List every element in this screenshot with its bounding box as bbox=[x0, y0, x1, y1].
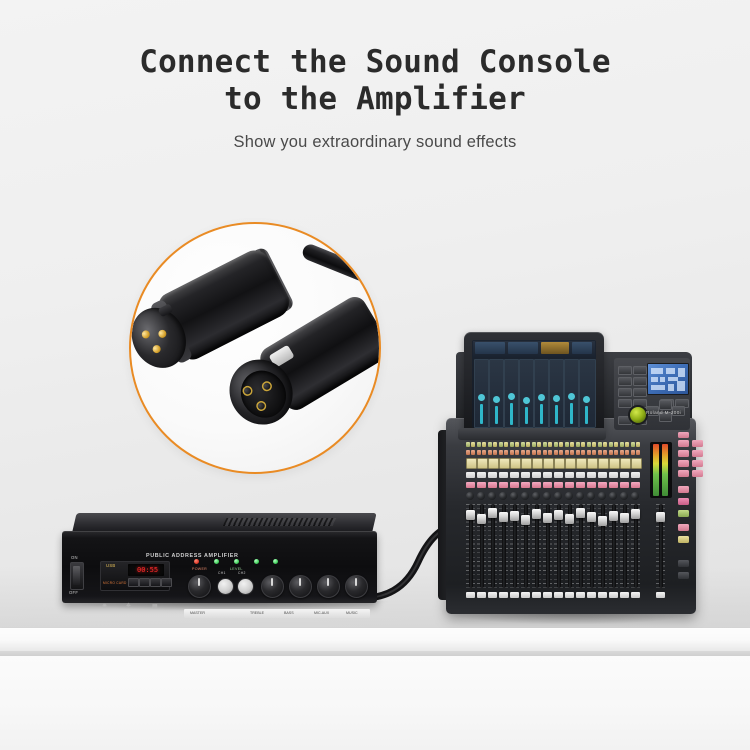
right-button[interactable] bbox=[678, 486, 689, 493]
tablet-fader bbox=[540, 404, 543, 424]
amp-top-cover bbox=[72, 513, 377, 533]
tablet-card-2 bbox=[508, 342, 538, 354]
tablet-knob bbox=[478, 394, 485, 401]
channel-fader[interactable] bbox=[532, 509, 541, 519]
strip-white-button[interactable] bbox=[488, 472, 497, 478]
strip-white-button[interactable] bbox=[598, 472, 607, 478]
led-meter-bridge bbox=[650, 442, 672, 498]
strip-white-button[interactable] bbox=[477, 472, 486, 478]
panel-button[interactable] bbox=[618, 388, 632, 397]
mic-input-ch2[interactable] bbox=[237, 578, 254, 595]
panel-button[interactable] bbox=[633, 388, 647, 397]
strip-gain-knob[interactable] bbox=[466, 458, 477, 469]
media-button-1[interactable] bbox=[128, 578, 139, 587]
channel-fader[interactable] bbox=[631, 509, 640, 519]
channel-strip bbox=[499, 442, 509, 600]
strip-white-button[interactable] bbox=[466, 472, 475, 478]
right-button[interactable] bbox=[692, 460, 703, 467]
tablet-knob bbox=[553, 395, 560, 402]
strip-orange-button bbox=[620, 450, 624, 455]
led-level bbox=[234, 559, 239, 564]
tablet-channel bbox=[504, 359, 519, 428]
strip-orange-button bbox=[526, 450, 530, 455]
channel-strip-area bbox=[466, 442, 646, 600]
tablet-fader bbox=[585, 406, 588, 424]
strip-pan-knob[interactable] bbox=[554, 492, 562, 500]
channel-fader[interactable] bbox=[620, 513, 629, 523]
strip-green-button bbox=[488, 442, 492, 447]
strip-orange-button bbox=[636, 450, 640, 455]
strip-orange-button bbox=[609, 450, 613, 455]
strip-pink-button[interactable] bbox=[554, 482, 563, 488]
channel-strip bbox=[565, 442, 575, 600]
strip-pan-knob[interactable] bbox=[620, 492, 628, 500]
strip-yellow-button bbox=[471, 442, 475, 447]
right-button[interactable] bbox=[692, 470, 703, 477]
strip-select-button[interactable] bbox=[587, 592, 596, 598]
strip-pan-knob[interactable] bbox=[631, 492, 639, 500]
channel-fader[interactable] bbox=[587, 512, 596, 522]
console-lcd-screen[interactable] bbox=[647, 363, 689, 395]
strip-select-button[interactable] bbox=[521, 592, 530, 598]
knob-treble[interactable] bbox=[289, 575, 312, 598]
strip-orange-button bbox=[521, 450, 525, 455]
strip-pan-knob[interactable] bbox=[532, 492, 540, 500]
strip-pink-button[interactable] bbox=[532, 482, 541, 488]
channel-fader[interactable] bbox=[576, 508, 585, 518]
strip-select-button[interactable] bbox=[609, 592, 618, 598]
product-infographic: Connect the Sound Console to the Amplifi… bbox=[0, 0, 750, 750]
power-switch[interactable] bbox=[70, 562, 84, 590]
channel-strip bbox=[587, 442, 597, 600]
strip-yellow-button bbox=[559, 442, 563, 447]
strip-green-button bbox=[631, 442, 635, 447]
strip-orange-button bbox=[510, 450, 514, 455]
strip-yellow-button bbox=[537, 442, 541, 447]
ch1-label: CH1 bbox=[218, 571, 226, 575]
strip-green-button bbox=[477, 442, 481, 447]
console-brand-label: Roland M-200i bbox=[646, 410, 681, 415]
tablet-knob bbox=[538, 394, 545, 401]
amp-front-panel: PUBLIC ADDRESS AMPLIFIER ON OFF USB MICR… bbox=[62, 531, 377, 603]
strip-yellow-button bbox=[515, 442, 519, 447]
strip-orange-button bbox=[488, 450, 492, 455]
page-subtitle: Show you extraordinary sound effects bbox=[0, 133, 750, 152]
strip-orange-button bbox=[576, 450, 580, 455]
channel-fader[interactable] bbox=[488, 508, 497, 518]
strip-green-button bbox=[620, 442, 624, 447]
strip-yellow-button bbox=[614, 442, 618, 447]
inset-clip bbox=[131, 224, 379, 472]
strip-gain-knob[interactable] bbox=[510, 458, 521, 469]
strip-orange-button bbox=[631, 450, 635, 455]
strip-select-button[interactable] bbox=[554, 592, 563, 598]
strip-orange-button bbox=[587, 450, 591, 455]
usb-icon: ⎈ bbox=[126, 603, 131, 610]
strip-pan-knob[interactable] bbox=[488, 492, 496, 500]
strip-yellow-button bbox=[504, 442, 508, 447]
strip-green-button bbox=[499, 442, 503, 447]
digital-mixing-console: Roland M-200i bbox=[428, 322, 696, 622]
strip-gain-knob[interactable] bbox=[532, 458, 543, 469]
panel-button[interactable] bbox=[633, 366, 647, 375]
strip-select-button[interactable] bbox=[499, 592, 508, 598]
strip-green-button bbox=[609, 442, 613, 447]
meter-left bbox=[653, 444, 659, 496]
strip-green-button bbox=[576, 442, 580, 447]
male-pin-1 bbox=[140, 329, 151, 340]
strip-pan-knob[interactable] bbox=[543, 492, 551, 500]
strip-white-button[interactable] bbox=[609, 472, 618, 478]
strip-select-button[interactable] bbox=[466, 592, 475, 598]
strip-pink-button[interactable] bbox=[598, 482, 607, 488]
legend-music: MUSIC bbox=[346, 611, 358, 615]
strip-green-button bbox=[466, 442, 470, 447]
strip-gain-knob[interactable] bbox=[499, 458, 510, 469]
strip-yellow-button bbox=[482, 442, 486, 447]
strip-green-button bbox=[543, 442, 547, 447]
strip-pan-knob[interactable] bbox=[598, 492, 606, 500]
legend-treble: TREBLE bbox=[250, 611, 264, 615]
led-power bbox=[194, 559, 199, 564]
channel-strip bbox=[598, 442, 608, 600]
strip-white-button[interactable] bbox=[565, 472, 574, 478]
channel-fader[interactable] bbox=[466, 510, 475, 520]
strip-orange-button bbox=[532, 450, 536, 455]
channel-strip bbox=[576, 442, 586, 600]
tablet-channel bbox=[564, 359, 579, 428]
public-address-amplifier: PUBLIC ADDRESS AMPLIFIER ON OFF USB MICR… bbox=[62, 513, 377, 611]
sd-label: MICRO CARD bbox=[103, 581, 127, 585]
right-button[interactable] bbox=[678, 524, 689, 531]
right-button[interactable] bbox=[678, 510, 689, 517]
strip-orange-button bbox=[499, 450, 503, 455]
strip-white-button[interactable] bbox=[587, 472, 596, 478]
channel-fader[interactable] bbox=[598, 516, 607, 526]
tablet-channel bbox=[474, 359, 489, 428]
led-display-value: 00:55 bbox=[137, 566, 142, 574]
media-button-4[interactable] bbox=[161, 578, 172, 587]
channel-strip bbox=[543, 442, 553, 600]
strip-gain-knob[interactable] bbox=[576, 458, 587, 469]
strip-white-button[interactable] bbox=[620, 472, 629, 478]
strip-orange-button bbox=[471, 450, 475, 455]
strip-white-button[interactable] bbox=[532, 472, 541, 478]
right-button[interactable] bbox=[692, 440, 703, 447]
strip-pink-button[interactable] bbox=[477, 482, 486, 488]
strip-yellow-button bbox=[548, 442, 552, 447]
tablet-knob bbox=[568, 393, 575, 400]
strip-white-button[interactable] bbox=[631, 472, 640, 478]
strip-orange-button bbox=[559, 450, 563, 455]
strip-pan-knob[interactable] bbox=[499, 492, 507, 500]
knob-bass[interactable] bbox=[317, 575, 340, 598]
led-5 bbox=[273, 559, 278, 564]
right-button[interactable] bbox=[678, 470, 689, 477]
strip-yellow-button bbox=[581, 442, 585, 447]
strip-orange-button bbox=[625, 450, 629, 455]
tablet-card-3 bbox=[541, 342, 569, 354]
strip-yellow-button bbox=[625, 442, 629, 447]
channel-fader[interactable] bbox=[565, 514, 574, 524]
tablet-fader bbox=[570, 403, 573, 424]
strip-orange-button bbox=[565, 450, 569, 455]
strip-white-button[interactable] bbox=[499, 472, 508, 478]
tablet-knob bbox=[493, 396, 500, 403]
strip-select-button[interactable] bbox=[543, 592, 552, 598]
ch2-label: CH2 bbox=[238, 571, 246, 575]
channel-strip bbox=[488, 442, 498, 600]
strip-gain-knob[interactable] bbox=[631, 458, 642, 469]
strip-yellow-button bbox=[493, 442, 497, 447]
channel-fader[interactable] bbox=[499, 512, 508, 522]
strip-orange-button bbox=[581, 450, 585, 455]
strip-green-button bbox=[521, 442, 525, 447]
strip-pan-knob[interactable] bbox=[521, 492, 529, 500]
strip-orange-button bbox=[504, 450, 508, 455]
tablet-fader bbox=[555, 405, 558, 424]
right-button[interactable] bbox=[678, 498, 689, 505]
strip-orange-button bbox=[603, 450, 607, 455]
strip-orange-button bbox=[570, 450, 574, 455]
strip-pink-button[interactable] bbox=[631, 482, 640, 488]
legend-master: MASTER bbox=[190, 611, 205, 615]
female-cavity bbox=[232, 362, 294, 426]
strip-orange-button bbox=[537, 450, 541, 455]
female-socket-2 bbox=[260, 379, 274, 393]
knob-music[interactable] bbox=[345, 575, 368, 598]
master-select-button[interactable] bbox=[656, 592, 665, 598]
tablet-screen[interactable] bbox=[472, 340, 596, 428]
strip-pink-button[interactable] bbox=[521, 482, 530, 488]
right-button[interactable] bbox=[678, 572, 689, 579]
strip-pan-knob[interactable] bbox=[587, 492, 595, 500]
channel-strip bbox=[554, 442, 564, 600]
right-button-top[interactable] bbox=[678, 432, 689, 438]
tablet-knob bbox=[508, 393, 515, 400]
tablet-channel bbox=[489, 359, 504, 428]
tablet-fader bbox=[495, 406, 498, 424]
strip-gain-knob[interactable] bbox=[609, 458, 620, 469]
tablet-channel bbox=[534, 359, 549, 428]
meter-right bbox=[662, 444, 668, 496]
panel-button[interactable] bbox=[618, 399, 632, 408]
male-pin-2 bbox=[157, 328, 168, 339]
strip-gain-knob[interactable] bbox=[620, 458, 631, 469]
usb-label: USB bbox=[106, 563, 116, 568]
strip-orange-button bbox=[592, 450, 596, 455]
tablet-card-1 bbox=[475, 342, 505, 354]
strip-yellow-button bbox=[603, 442, 607, 447]
led-display: 00:55 bbox=[128, 564, 164, 576]
strip-green-button bbox=[554, 442, 558, 447]
strip-yellow-button bbox=[570, 442, 574, 447]
strip-pink-button[interactable] bbox=[565, 482, 574, 488]
channel-strip bbox=[466, 442, 476, 600]
strip-white-button[interactable] bbox=[521, 472, 530, 478]
channel-fader[interactable] bbox=[510, 511, 519, 521]
mic-input-ch1[interactable] bbox=[217, 578, 234, 595]
strip-orange-button bbox=[543, 450, 547, 455]
strip-pink-button[interactable] bbox=[620, 482, 629, 488]
strip-pink-button[interactable] bbox=[488, 482, 497, 488]
channel-strip bbox=[477, 442, 487, 600]
strip-select-button[interactable] bbox=[488, 592, 497, 598]
title-line-1: Connect the Sound Console bbox=[139, 44, 611, 80]
strip-gain-knob[interactable] bbox=[488, 458, 499, 469]
channel-strip bbox=[532, 442, 542, 600]
sd-card-icon: ▦ bbox=[152, 603, 158, 610]
right-button[interactable] bbox=[678, 450, 689, 457]
right-button[interactable] bbox=[692, 450, 703, 457]
strip-select-button[interactable] bbox=[477, 592, 486, 598]
tablet-knob bbox=[583, 396, 590, 403]
strip-gain-knob[interactable] bbox=[477, 458, 488, 469]
brand-model: M-200i bbox=[665, 410, 681, 415]
amp-vent-slots bbox=[223, 518, 337, 526]
strip-gain-knob[interactable] bbox=[587, 458, 598, 469]
strip-select-button[interactable] bbox=[598, 592, 607, 598]
channel-strip bbox=[620, 442, 630, 600]
strip-orange-button bbox=[466, 450, 470, 455]
console-armrest bbox=[458, 428, 606, 440]
cursor-up-button[interactable] bbox=[659, 400, 672, 410]
strip-pan-knob[interactable] bbox=[510, 492, 518, 500]
tablet-fader bbox=[480, 404, 483, 424]
strip-pink-button[interactable] bbox=[466, 482, 475, 488]
female-socket-3 bbox=[254, 399, 268, 413]
master-fader[interactable] bbox=[656, 512, 665, 522]
media-button-2[interactable] bbox=[139, 578, 150, 587]
power-off-label: OFF bbox=[69, 590, 78, 595]
strip-white-button[interactable] bbox=[554, 472, 563, 478]
tablet-channel bbox=[519, 359, 534, 428]
media-button-3[interactable] bbox=[150, 578, 161, 587]
strip-white-button[interactable] bbox=[510, 472, 519, 478]
panel-button[interactable] bbox=[618, 377, 632, 386]
led-4 bbox=[254, 559, 259, 564]
strip-pan-knob[interactable] bbox=[576, 492, 584, 500]
channel-fader[interactable] bbox=[477, 514, 486, 524]
panel-button[interactable] bbox=[618, 366, 632, 375]
xlr-cable-closeup bbox=[129, 222, 381, 474]
channel-strip bbox=[510, 442, 520, 600]
strip-green-button bbox=[587, 442, 591, 447]
brand-name: Roland bbox=[646, 410, 663, 415]
male-pin-3 bbox=[151, 344, 162, 355]
strip-select-button[interactable] bbox=[576, 592, 585, 598]
knob-master[interactable] bbox=[261, 575, 284, 598]
led-power-label: POWER bbox=[192, 567, 207, 571]
channel-strip bbox=[631, 442, 641, 600]
right-button[interactable] bbox=[678, 440, 689, 447]
strip-yellow-button bbox=[592, 442, 596, 447]
strip-pink-button[interactable] bbox=[543, 482, 552, 488]
right-button[interactable] bbox=[678, 460, 689, 467]
strip-select-button[interactable] bbox=[565, 592, 574, 598]
legend-bass: BASS bbox=[284, 611, 294, 615]
strip-gain-knob[interactable] bbox=[521, 458, 532, 469]
strip-green-button bbox=[598, 442, 602, 447]
channel-fader[interactable] bbox=[543, 513, 552, 523]
right-button[interactable] bbox=[678, 560, 689, 567]
strip-pink-button[interactable] bbox=[576, 482, 585, 488]
strip-pan-knob[interactable] bbox=[477, 492, 485, 500]
legend-micaux: MIC-AUX bbox=[314, 611, 329, 615]
strip-yellow-button bbox=[636, 442, 640, 447]
channel-fader[interactable] bbox=[609, 511, 618, 521]
strip-orange-button bbox=[493, 450, 497, 455]
indicator-led-row bbox=[194, 559, 278, 565]
channel-strip bbox=[521, 442, 531, 600]
tablet-channel bbox=[549, 359, 564, 428]
strip-select-button[interactable] bbox=[532, 592, 541, 598]
strip-green-button bbox=[565, 442, 569, 447]
strip-gain-knob[interactable] bbox=[554, 458, 565, 469]
tablet-knob bbox=[523, 397, 530, 404]
strip-green-button bbox=[532, 442, 536, 447]
cabinet bbox=[0, 656, 750, 750]
right-button[interactable] bbox=[678, 536, 689, 543]
tablet-card-4 bbox=[572, 342, 592, 354]
strip-orange-button bbox=[598, 450, 602, 455]
strip-yellow-button bbox=[526, 442, 530, 447]
channel-fader[interactable] bbox=[554, 510, 563, 520]
strip-pink-button[interactable] bbox=[499, 482, 508, 488]
strip-orange-button bbox=[548, 450, 552, 455]
strip-green-button bbox=[510, 442, 514, 447]
tablet-channel bbox=[579, 359, 596, 428]
strip-pink-button[interactable] bbox=[587, 482, 596, 488]
channel-fader[interactable] bbox=[521, 515, 530, 525]
strip-orange-button bbox=[515, 450, 519, 455]
title-line-2: to the Amplifier bbox=[0, 81, 750, 118]
strip-orange-button bbox=[477, 450, 481, 455]
tablet-mixer-app[interactable] bbox=[464, 332, 604, 436]
knob-mic[interactable] bbox=[188, 575, 211, 598]
tablet-fader bbox=[525, 407, 528, 424]
bluetooth-icon: ✺ bbox=[102, 603, 107, 610]
page-title: Connect the Sound Console to the Amplifi… bbox=[0, 44, 750, 118]
female-socket-1 bbox=[241, 384, 255, 398]
strip-pan-knob[interactable] bbox=[466, 492, 474, 500]
power-on-label: ON bbox=[71, 555, 78, 560]
strip-pink-button[interactable] bbox=[609, 482, 618, 488]
strip-pink-button[interactable] bbox=[510, 482, 519, 488]
strip-select-button[interactable] bbox=[510, 592, 519, 598]
strip-orange-button bbox=[482, 450, 486, 455]
strip-white-button[interactable] bbox=[576, 472, 585, 478]
panel-button[interactable] bbox=[633, 377, 647, 386]
strip-pan-knob[interactable] bbox=[609, 492, 617, 500]
strip-orange-button bbox=[614, 450, 618, 455]
value-encoder-knob[interactable] bbox=[628, 405, 648, 425]
strip-white-button[interactable] bbox=[543, 472, 552, 478]
strip-select-button[interactable] bbox=[631, 592, 640, 598]
strip-gain-knob[interactable] bbox=[565, 458, 576, 469]
control-legend-strip: MASTER TREBLE BASS MIC-AUX MUSIC bbox=[184, 609, 370, 618]
strip-gain-knob[interactable] bbox=[598, 458, 609, 469]
strip-gain-knob[interactable] bbox=[543, 458, 554, 469]
strip-select-button[interactable] bbox=[620, 592, 629, 598]
strip-orange-button bbox=[554, 450, 558, 455]
led-2 bbox=[214, 559, 219, 564]
channel-strip bbox=[609, 442, 619, 600]
strip-pan-knob[interactable] bbox=[565, 492, 573, 500]
tablet-fader bbox=[510, 403, 513, 425]
console-right-buttons bbox=[678, 440, 716, 600]
